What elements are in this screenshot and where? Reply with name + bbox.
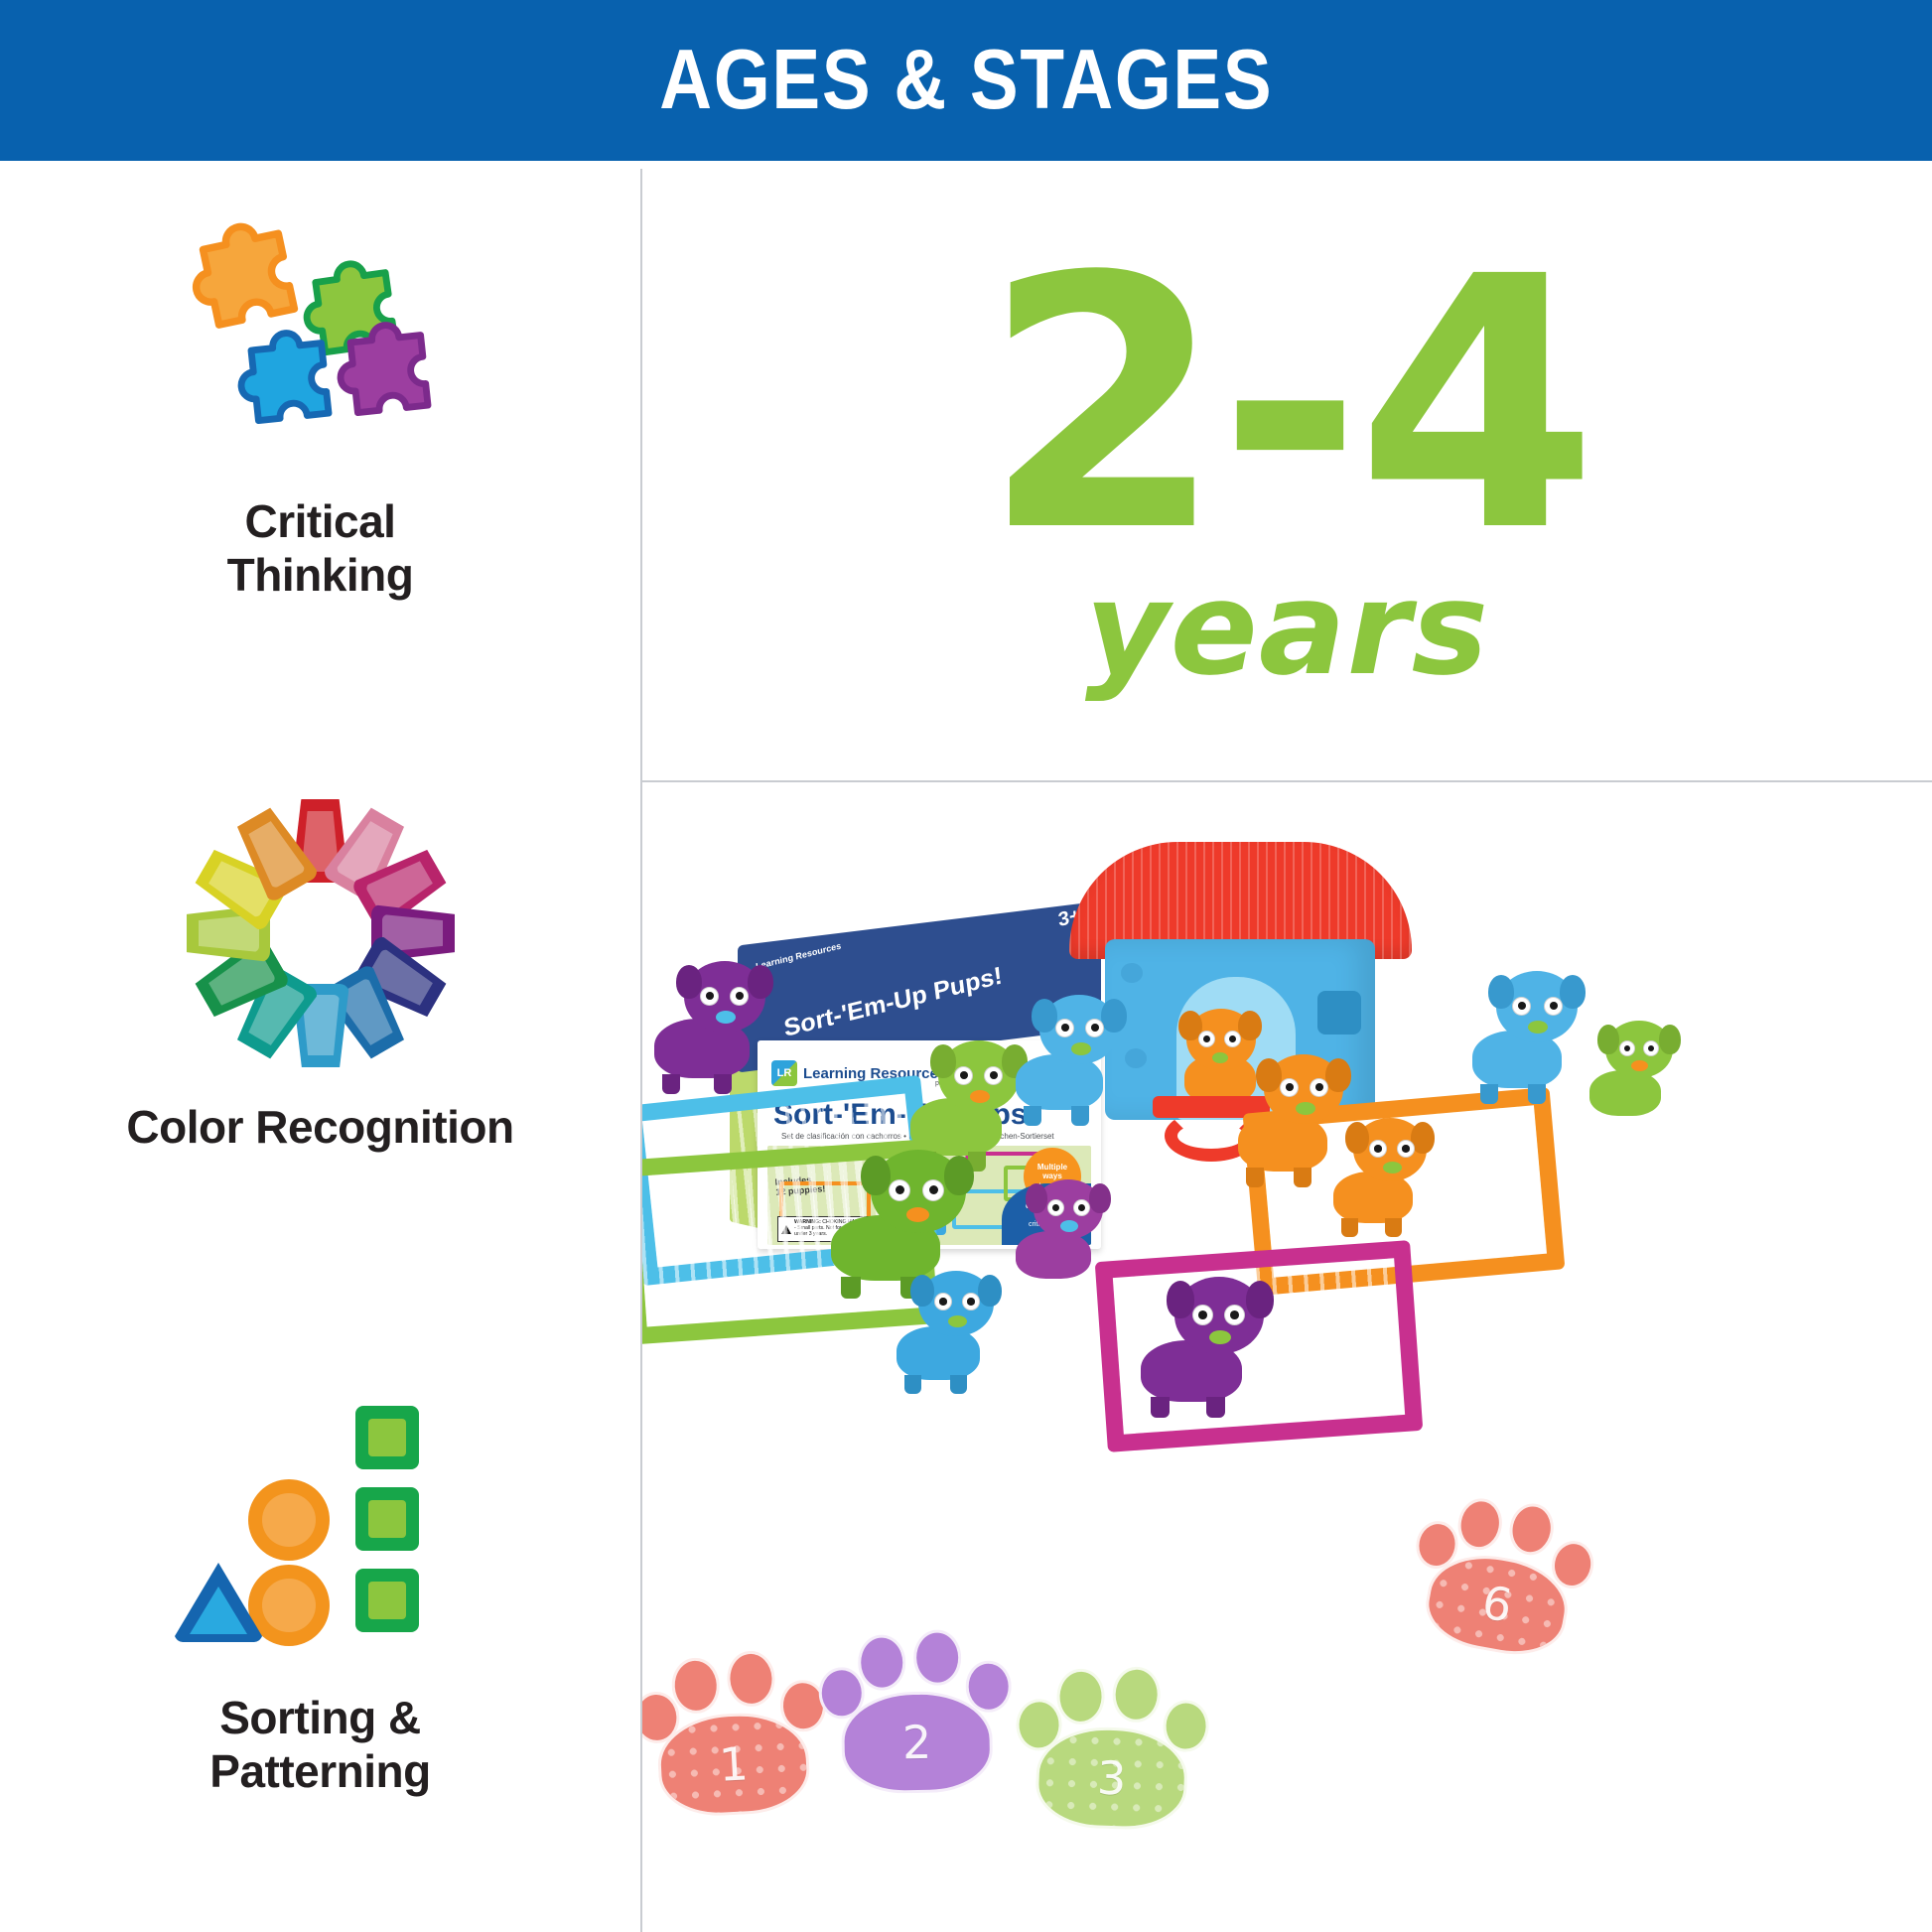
orange-circle-1 (248, 1479, 330, 1561)
puppy-green-large (827, 1150, 976, 1281)
puppy-blue-right (1468, 971, 1589, 1088)
age-range-value: 2-4 (982, 258, 1591, 554)
green-square-1 (355, 1406, 419, 1469)
header-banner: AGES & STAGES (0, 0, 1932, 161)
paw-card-1: 1 (642, 1635, 835, 1820)
puzzle-pieces-icon (157, 179, 484, 477)
green-square-2 (355, 1487, 419, 1551)
age-panel: 2-4 years (642, 171, 1932, 780)
paw-card-2: 2 (815, 1616, 1017, 1794)
green-square-3 (355, 1569, 419, 1632)
box-top-product-name: Sort-'Em-Up Pups! (782, 962, 1004, 1043)
paw-card-2-number: 2 (902, 1716, 932, 1770)
puppy-purple-small (1012, 1179, 1115, 1279)
sorting-shapes-icon (157, 1375, 484, 1673)
color-wheel-icon (157, 784, 484, 1082)
puppy-orange-b (1329, 1118, 1439, 1223)
feature-label-sorting-patterning: Sorting & Patterning (209, 1691, 430, 1799)
product-photo-panel: Learning Resources 3+ Sort-'Em-Up Pups! … (642, 784, 1932, 1932)
blue-triangle (169, 1557, 268, 1644)
puppy-purple-fence (1137, 1277, 1276, 1402)
puppy-blue-mid (1012, 995, 1131, 1110)
puzzle-piece-purple (323, 306, 462, 447)
puppy-green-right (1586, 1021, 1685, 1116)
paw-card-3: 3 (1011, 1651, 1215, 1833)
ages-and-stages-infographic: AGES & STAGES (0, 0, 1932, 1932)
doghouse-window (1317, 991, 1361, 1035)
features-column: Critical Thinking Color Recognition (0, 169, 640, 1932)
feature-label-color-recognition: Color Recognition (126, 1100, 513, 1154)
puppy-blue-small (893, 1271, 1008, 1380)
age-unit-label: years (1085, 564, 1489, 693)
feature-label-critical-thinking: Critical Thinking (227, 494, 414, 603)
puppy-purple-left (648, 961, 777, 1078)
page-title: AGES & STAGES (659, 32, 1273, 129)
feature-critical-thinking: Critical Thinking (0, 179, 640, 603)
paw-card-6: 6 (1398, 1474, 1608, 1667)
feature-color-recognition: Color Recognition (0, 784, 640, 1154)
horizontal-divider (640, 780, 1932, 782)
feature-sorting-patterning: Sorting & Patterning (0, 1375, 640, 1799)
